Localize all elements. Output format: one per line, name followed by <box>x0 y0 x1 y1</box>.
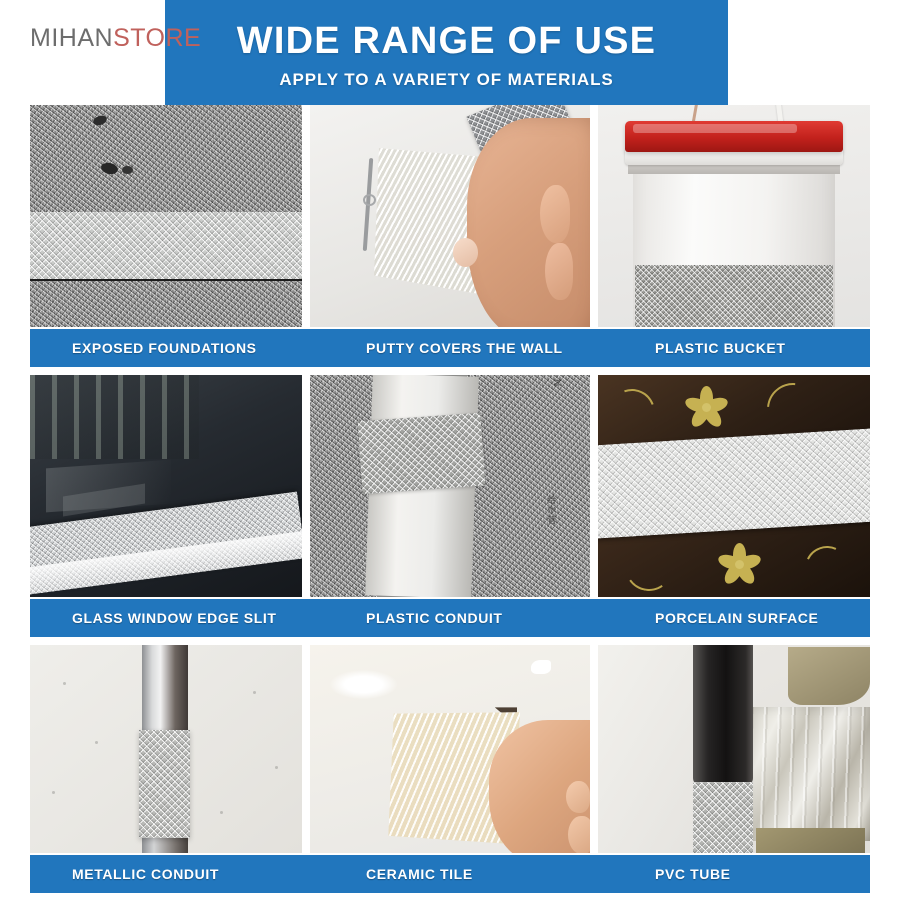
mesh-tape-on-tube <box>693 782 753 853</box>
use-case-label-putty-covers-the-wall: PUTTY COVERS THE WALL <box>366 340 563 356</box>
photo-row-2: N 给水管 <box>30 375 870 597</box>
concrete-wall-right <box>467 375 590 597</box>
thumb-nail <box>453 238 478 267</box>
brand-logo-part2: STORE <box>113 24 201 52</box>
grid-row-1: EXPOSED FOUNDATIONS PUTTY COVERS THE WAL… <box>30 105 870 375</box>
background-object-lower <box>756 828 865 853</box>
foil-creases <box>750 707 870 840</box>
use-case-photo-metallic-conduit <box>30 645 302 853</box>
use-case-grid: EXPOSED FOUNDATIONS PUTTY COVERS THE WAL… <box>30 105 870 895</box>
grid-row-3: METALLIC CONDUIT CERAMIC TILE PVC TUBE <box>30 645 870 893</box>
hand <box>489 720 590 853</box>
pipe-marking-top: N <box>551 379 562 386</box>
concrete-texture-upper <box>30 105 302 212</box>
label-bar-row-3: METALLIC CONDUIT CERAMIC TILE PVC TUBE <box>30 855 870 893</box>
railing-reflection <box>30 375 199 459</box>
finger <box>568 816 590 853</box>
photo-row-1 <box>30 105 870 327</box>
lid-highlight <box>633 124 796 133</box>
finger <box>540 185 571 243</box>
use-case-photo-plastic-conduit: N 给水管 <box>310 375 590 597</box>
light-glare <box>531 660 551 675</box>
tape-band-on-bucket <box>635 265 834 327</box>
label-bar-row-1: EXPOSED FOUNDATIONS PUTTY COVERS THE WAL… <box>30 329 870 367</box>
use-case-photo-glass-window-edge-slit <box>30 375 302 597</box>
use-case-label-metallic-conduit: METALLIC CONDUIT <box>72 866 219 882</box>
silver-mesh-tape-wrap <box>139 730 191 838</box>
grid-row-2: N 给水管 <box>30 375 870 645</box>
gold-vine-motif <box>601 381 662 442</box>
concrete-texture-lower <box>30 281 302 327</box>
background-object-upper <box>788 647 870 705</box>
brand-logo: MIHANSTORE <box>30 22 201 54</box>
light-reflection-spot <box>330 670 397 699</box>
gold-vine-motif <box>799 540 855 596</box>
use-case-photo-putty-covers-the-wall <box>310 105 590 327</box>
finger <box>545 243 573 301</box>
page-title: WIDE RANGE OF USE <box>237 19 656 63</box>
use-case-label-pvc-tube: PVC TUBE <box>655 866 731 882</box>
mesh-tape-wrap <box>358 413 486 495</box>
page-subtitle: APPLY TO A VARIETY OF MATERIALS <box>279 69 613 91</box>
use-case-label-plastic-bucket: PLASTIC BUCKET <box>655 340 786 356</box>
hand <box>467 118 590 327</box>
waterproof-tape-strip <box>30 212 302 281</box>
use-case-photo-plastic-bucket <box>598 105 870 327</box>
gold-vine-motif <box>621 539 677 595</box>
use-case-photo-pvc-tube <box>598 645 870 853</box>
header-banner: WIDE RANGE OF USE APPLY TO A VARIETY OF … <box>165 0 728 105</box>
use-case-photo-porcelain-surface <box>598 375 870 597</box>
pipe-marking: 给水管 <box>546 495 556 525</box>
concrete-blemish <box>122 166 133 174</box>
photo-row-3 <box>30 645 870 853</box>
use-case-photo-exposed-foundations <box>30 105 302 327</box>
product-infographic: MIHANSTORE WIDE RANGE OF USE APPLY TO A … <box>0 0 900 900</box>
use-case-label-plastic-conduit: PLASTIC CONDUIT <box>366 610 503 626</box>
steel-pipe-upper <box>142 645 188 732</box>
black-pvc-tube <box>693 645 753 786</box>
concrete-blemish <box>100 161 119 175</box>
use-case-photo-ceramic-tile <box>310 645 590 853</box>
concrete-blemish <box>91 114 107 127</box>
finger <box>566 781 590 813</box>
label-bar-row-2: GLASS WINDOW EDGE SLIT PLASTIC CONDUIT P… <box>30 599 870 637</box>
use-case-label-exposed-foundations: EXPOSED FOUNDATIONS <box>72 340 257 356</box>
brand-logo-part1: MIHAN <box>30 24 113 52</box>
wall-crack-detail <box>363 194 376 206</box>
use-case-label-ceramic-tile: CERAMIC TILE <box>366 866 473 882</box>
white-tape-band <box>598 428 870 539</box>
use-case-label-porcelain-surface: PORCELAIN SURFACE <box>655 610 818 626</box>
use-case-label-glass-window-edge-slit: GLASS WINDOW EDGE SLIT <box>72 610 277 626</box>
